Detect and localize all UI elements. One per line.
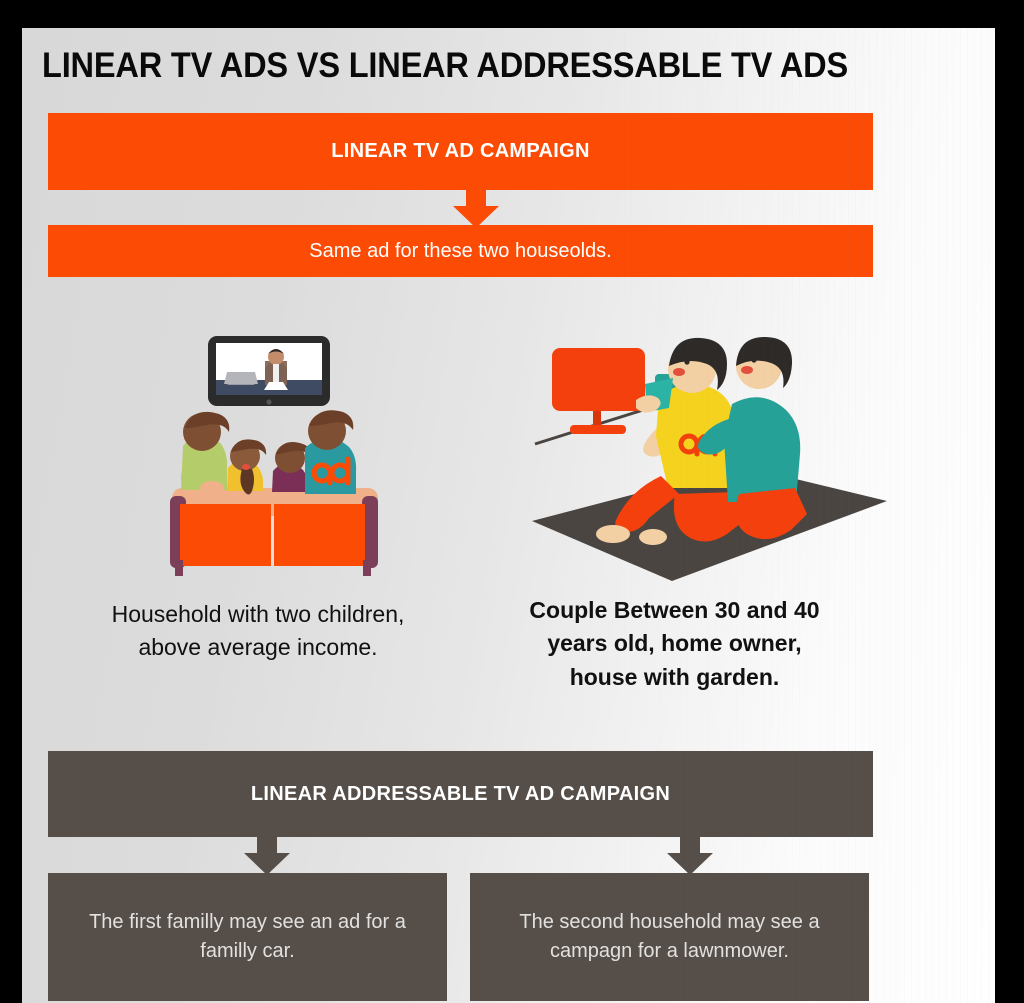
slide-card: LINEAR TV ADS VS LINEAR ADDRESSABLE TV A… [22,28,995,1003]
result-box-first-family: The first familly may see an ad for a fa… [48,873,447,1001]
slide-root: LINEAR TV ADS VS LINEAR ADDRESSABLE TV A… [0,0,1024,1003]
arrow-stem [466,190,486,206]
arrow-head [667,853,713,875]
linear-tv-ad-campaign-banner: LINEAR TV AD CAMPAIGN [48,113,873,190]
household-caption-couple: Couple Between 30 and 40 years old, home… [477,594,872,694]
couple-watching-tv-illustration [527,326,897,591]
page-title: LINEAR TV ADS VS LINEAR ADDRESSABLE TV A… [42,46,879,86]
arrow-head [244,853,290,875]
family-watching-tv-illustration [150,328,400,583]
down-arrow-icon [453,190,499,228]
down-arrow-icon [244,837,290,875]
same-ad-banner: Same ad for these two houseolds. [48,225,873,277]
down-arrow-icon [667,837,713,875]
household-caption-family: Household with two children, above avera… [48,598,468,665]
caption-line: years old, home owner, [477,627,872,660]
result-box-second-household: The second household may see a campagn f… [470,873,869,1001]
arrow-stem [680,837,700,853]
caption-line: above average income. [48,631,468,664]
caption-line: Household with two children, [48,598,468,631]
caption-line: Couple Between 30 and 40 [477,594,872,627]
arrow-stem [257,837,277,853]
caption-line: house with garden. [477,661,872,694]
linear-addressable-tv-ad-campaign-banner: LINEAR ADDRESSABLE TV AD CAMPAIGN [48,751,873,837]
